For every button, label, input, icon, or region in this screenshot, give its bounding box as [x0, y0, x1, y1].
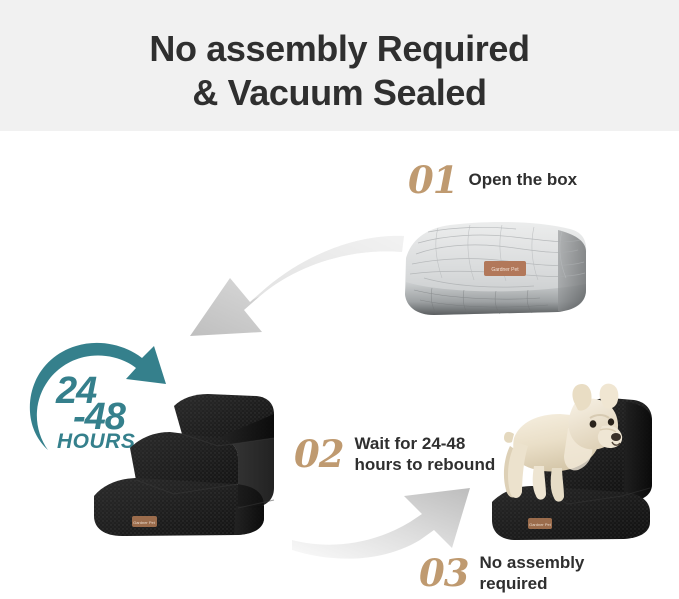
stairs-right-brand-tag: Gardner Pet	[528, 518, 552, 529]
product-infographic: No assembly Required & Vacuum Sealed 01 …	[0, 0, 679, 599]
pet-stairs-left-image: Gardner Pet	[86, 388, 298, 543]
step-03-label: No assembly required	[480, 553, 585, 594]
header-band: No assembly Required & Vacuum Sealed	[0, 0, 679, 131]
step-02-number: 02	[294, 436, 344, 473]
curved-arrow-down-left-icon	[178, 232, 404, 342]
step-03: 03 No assembly required	[419, 553, 584, 594]
vacuum-sealed-package-image: Gardner Pet	[398, 216, 593, 322]
package-brand-tag: Gardner Pet	[484, 261, 526, 276]
svg-text:Gardner Pet: Gardner Pet	[133, 520, 156, 525]
step-01: 01 Open the box	[408, 162, 577, 199]
step-01-label: Open the box	[469, 170, 578, 191]
step-02: 02 Wait for 24-48 hours to rebound	[294, 434, 495, 475]
svg-text:Gardner Pet: Gardner Pet	[529, 522, 552, 527]
svg-text:Gardner Pet: Gardner Pet	[491, 267, 519, 273]
step-01-number: 01	[408, 162, 458, 199]
french-bulldog-image	[490, 382, 635, 517]
step-03-number: 03	[419, 555, 469, 592]
step-02-label: Wait for 24-48 hours to rebound	[355, 434, 496, 475]
stairs-left-brand-tag: Gardner Pet	[132, 516, 157, 527]
page-title: No assembly Required & Vacuum Sealed	[0, 27, 679, 115]
